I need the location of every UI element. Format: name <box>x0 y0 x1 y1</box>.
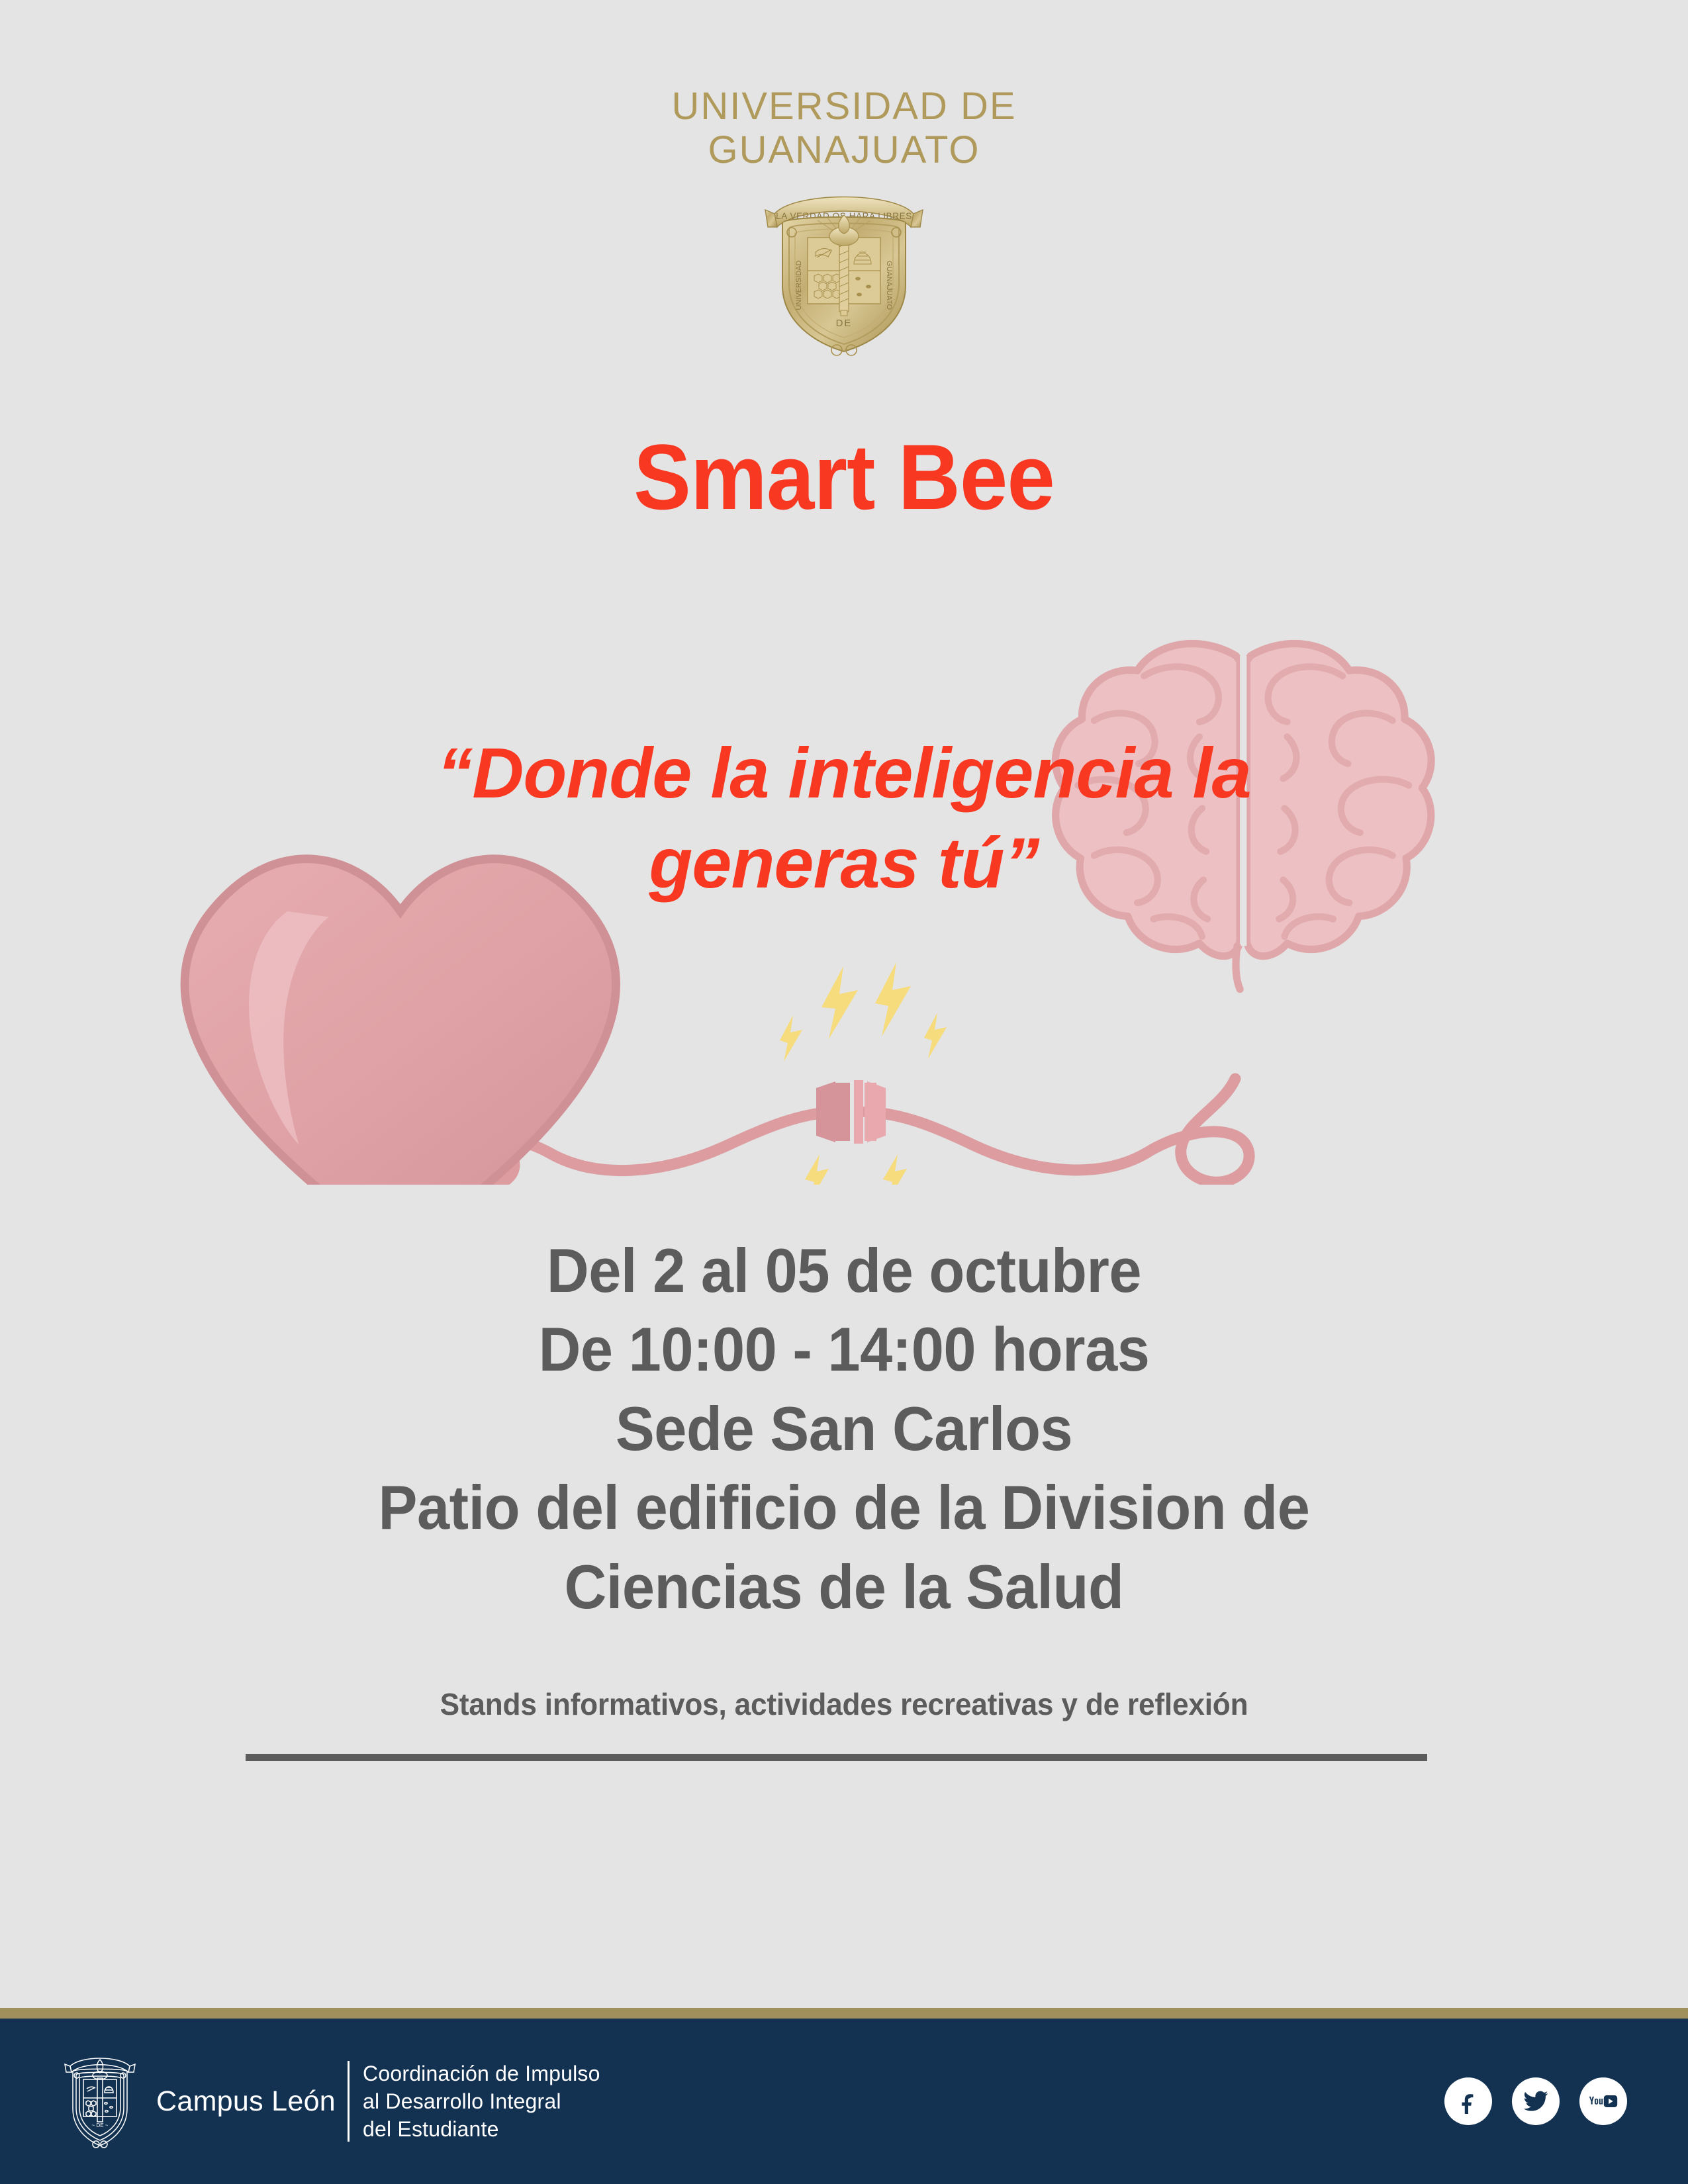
social-links <box>1444 2077 1627 2125</box>
coordination-line2: al Desarrollo Integral <box>363 2087 600 2115</box>
event-venue: Sede San Carlos <box>51 1389 1638 1468</box>
crest-label-left: UNIVERSIDAD <box>795 260 803 310</box>
university-name-line1: UNIVERSIDAD DE <box>671 85 1016 128</box>
poster-header: UNIVERSIDAD DE GUANAJUATO LA VERDAD OS H… <box>0 0 1688 358</box>
page-title: Smart Bee <box>59 424 1629 531</box>
crest-label-right: GUANAJUATO <box>885 261 893 310</box>
footer-vertical-rule <box>348 2061 350 2142</box>
svg-text:~ DE ~: ~ DE ~ <box>92 2122 109 2128</box>
coordination-line3: del Estudiante <box>363 2115 600 2143</box>
plug-connector-icon <box>816 1080 886 1144</box>
crest-label-center: DE <box>836 318 853 329</box>
twitter-icon[interactable] <box>1512 2077 1560 2125</box>
slogan-line2: generas tú” <box>328 818 1360 908</box>
university-crest-icon: LA VERDAD OS HARA LIBRES <box>755 186 933 358</box>
event-subnote: Stands informativos, actividades recreat… <box>34 1686 1654 1722</box>
event-location-line2: Ciencias de la Salud <box>51 1547 1638 1626</box>
event-location-line1: Patio del edificio de la Division de <box>51 1468 1638 1547</box>
university-name: UNIVERSIDAD DE GUANAJUATO <box>671 85 1016 171</box>
slogan-line1: “Donde la inteligencia la <box>328 728 1360 818</box>
gold-accent-bar <box>0 2008 1688 2019</box>
lightning-bolt-icon <box>780 962 947 1185</box>
youtube-icon[interactable] <box>1579 2077 1627 2125</box>
event-details: Del 2 al 05 de octubre De 10:00 - 14:00 … <box>51 1231 1638 1626</box>
university-crest-outline-icon: ~ DE ~ <box>61 2052 139 2151</box>
footer-branding: ~ DE ~ Campus León Coordinación de Impul… <box>61 2052 600 2151</box>
campus-label: Campus León <box>156 2085 336 2118</box>
event-hours: De 10:00 - 14:00 horas <box>51 1310 1638 1388</box>
university-name-line2: GUANAJUATO <box>671 128 1016 172</box>
event-dates: Del 2 al 05 de octubre <box>51 1231 1638 1310</box>
coordination-line1: Coordinación de Impulso <box>363 2060 600 2087</box>
divider-rule <box>246 1754 1427 1761</box>
poster-footer: ~ DE ~ Campus León Coordinación de Impul… <box>0 2019 1688 2184</box>
slogan: “Donde la inteligencia la generas tú” <box>328 728 1360 908</box>
facebook-icon[interactable] <box>1444 2077 1492 2125</box>
cable-brain <box>866 1079 1249 1182</box>
coordination-name: Coordinación de Impulso al Desarrollo In… <box>363 2060 600 2144</box>
